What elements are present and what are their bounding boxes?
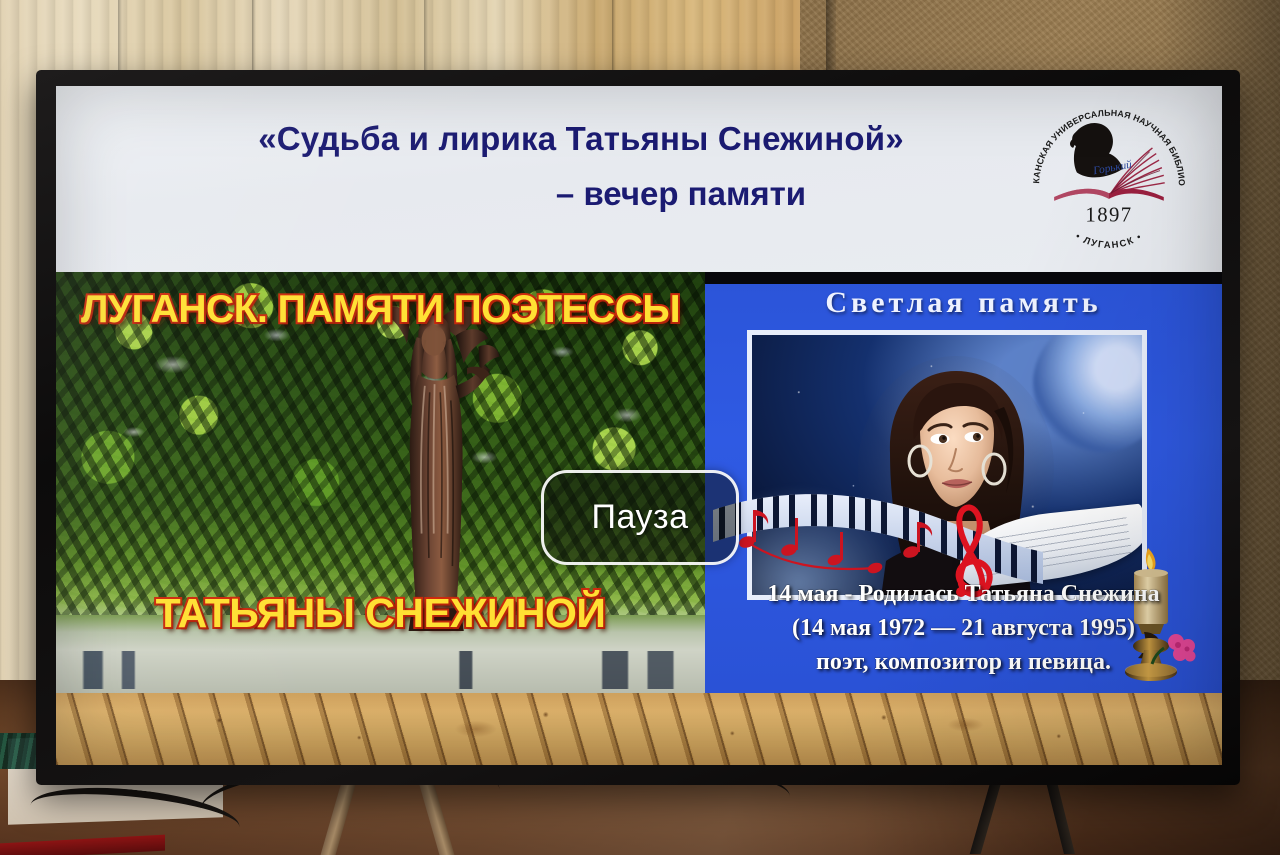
- title-line-2: – вечер памяти: [116, 175, 1046, 213]
- pause-label: Пауза: [592, 498, 689, 537]
- slide-title: «Судьба и лирика Татьяны Снежиной» – веч…: [116, 120, 1046, 213]
- memorial-heading: Светлая память: [705, 286, 1222, 320]
- info-line-1: 14 мая - Родилась Татьяна Снежина: [705, 577, 1222, 611]
- memorial-info: 14 мая - Родилась Татьяна Снежина (14 ма…: [705, 577, 1222, 679]
- svg-text:1897: 1897: [1085, 204, 1132, 227]
- panel-top-bar: [705, 272, 1222, 284]
- tv-screen[interactable]: «Судьба и лирика Татьяны Снежиной» – веч…: [56, 86, 1222, 765]
- info-line-2: (14 мая 1972 — 21 августа 1995): [705, 611, 1222, 645]
- info-line-3: поэт, композитор и певица.: [705, 645, 1222, 679]
- pause-overlay-button[interactable]: Пауза: [541, 470, 739, 565]
- room-scene: «Судьба и лирика Татьяны Снежиной» – веч…: [0, 0, 1280, 855]
- left-caption-top: ЛУГАНСК. ПАМЯТИ ПОЭТЕССЫ: [56, 288, 705, 332]
- svg-text:• ЛУГАНСК •: • ЛУГАНСК •: [1073, 231, 1144, 251]
- park-background-objects: [56, 651, 705, 689]
- presentation-slide: «Судьба и лирика Татьяны Снежиной» – веч…: [56, 86, 1222, 765]
- slide-header: «Судьба и лирика Татьяны Снежиной» – веч…: [56, 86, 1222, 272]
- television: «Судьба и лирика Татьяны Снежиной» – веч…: [36, 70, 1240, 785]
- right-memorial-panel: Светлая память: [705, 272, 1222, 693]
- title-line-1: «Судьба и лирика Татьяны Снежиной»: [116, 120, 1046, 158]
- wooden-deck-grain: [56, 693, 1222, 765]
- left-caption-bottom: ТАТЬЯНЫ СНЕЖИНОЙ: [56, 590, 705, 637]
- library-logo: ЛУГАНСКАЯ РЕСПУБЛИКАНСКАЯ УНИВЕРСАЛЬНАЯ …: [1024, 92, 1194, 268]
- statue-figure: [342, 290, 532, 631]
